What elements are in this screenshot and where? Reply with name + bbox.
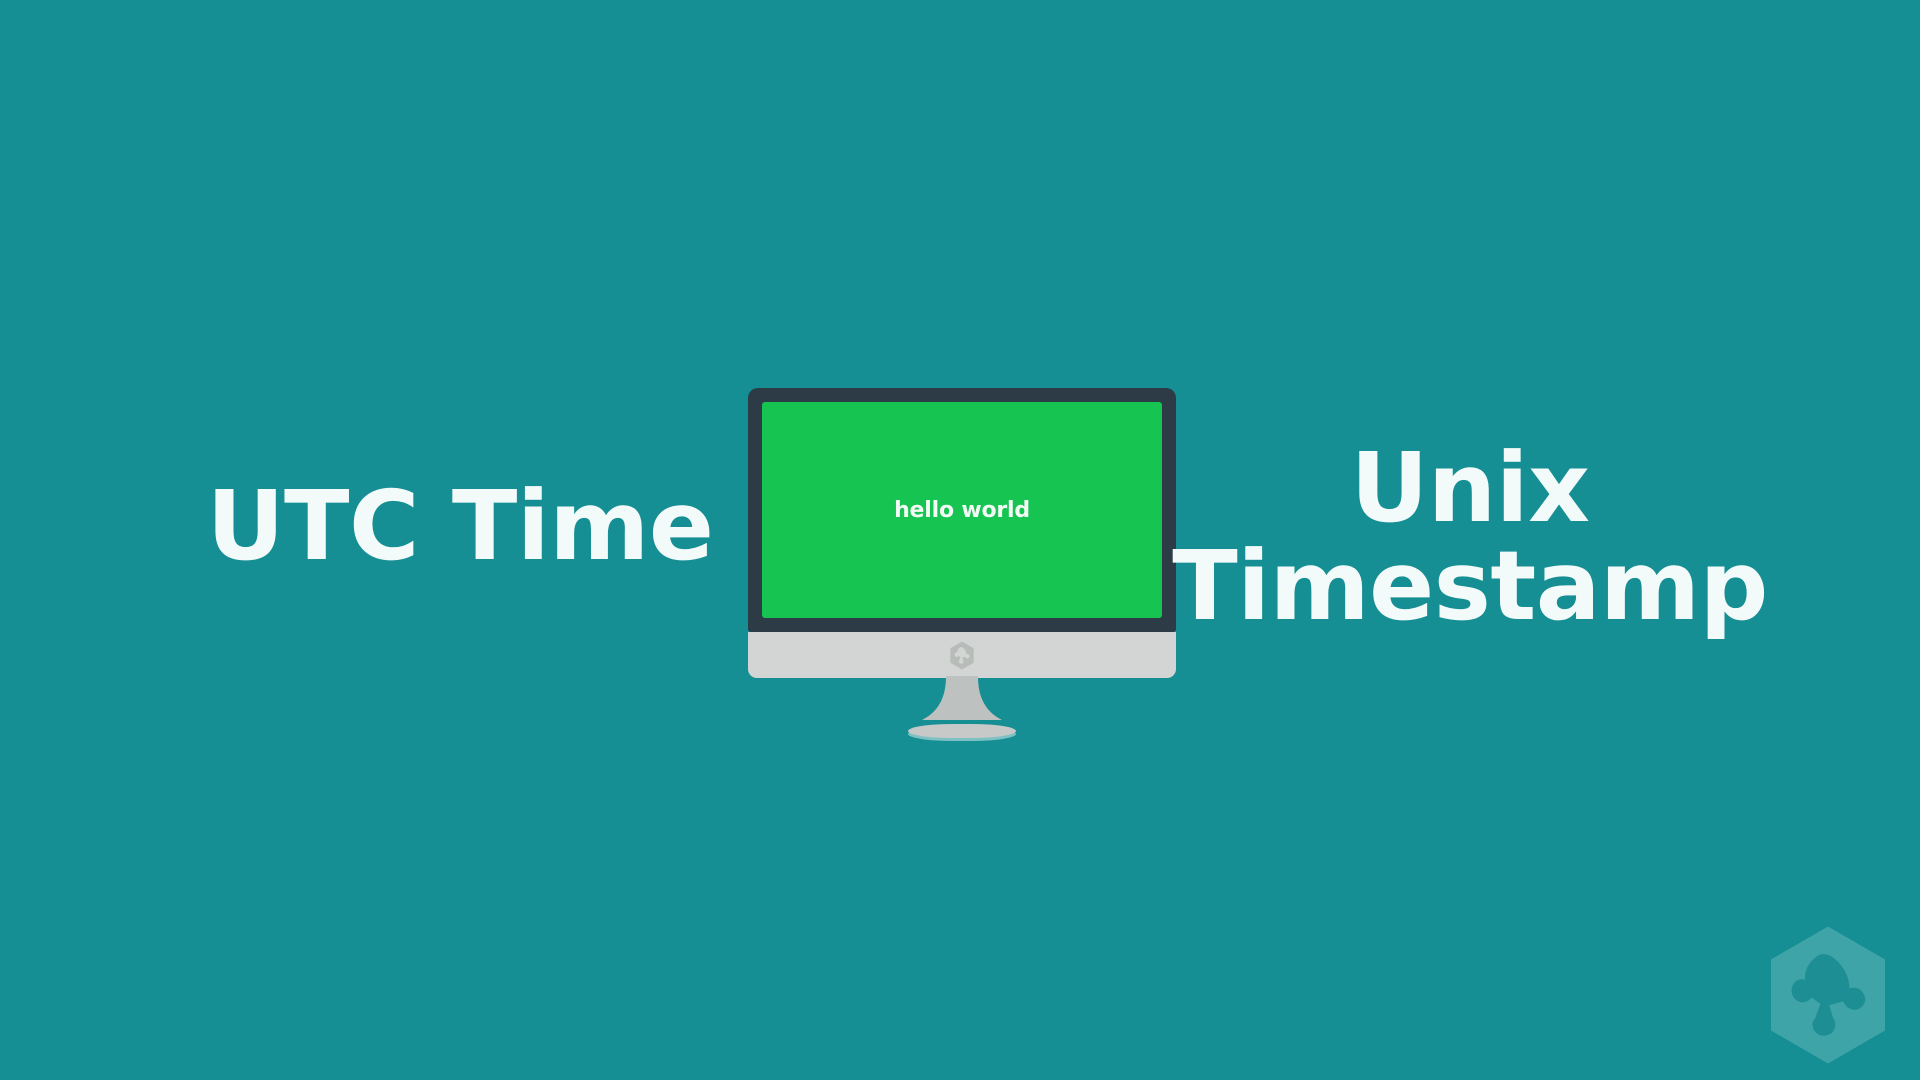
monitor-stand bbox=[902, 676, 1022, 728]
hexagon-gecko-watermark-logo-icon bbox=[1764, 924, 1892, 1066]
left-heading: UTC Time bbox=[120, 478, 800, 576]
monitor-base bbox=[908, 724, 1016, 738]
hexagon-gecko-logo-icon bbox=[949, 641, 975, 670]
monitor-bezel: hello world bbox=[748, 388, 1176, 632]
slide-canvas: UTC Time hello world Unix Timestamp bbox=[0, 0, 1920, 1080]
right-heading: Unix Timestamp bbox=[1140, 440, 1800, 636]
monitor-chin bbox=[748, 632, 1176, 678]
monitor-screen: hello world bbox=[762, 402, 1162, 618]
screen-text: hello world bbox=[894, 498, 1030, 523]
desktop-monitor-illustration: hello world bbox=[748, 388, 1176, 682]
